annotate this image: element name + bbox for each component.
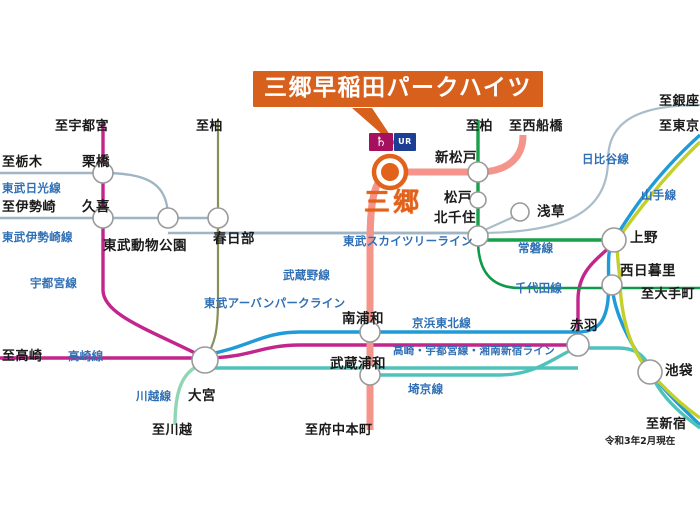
- property-title: 三郷早稲田パークハイツ: [264, 77, 532, 100]
- musashino-logo-glyph: ♄: [375, 136, 387, 149]
- line-label-yamanote: 山手線: [641, 190, 676, 202]
- station-label-musashi-urawa: 武蔵浦和: [330, 358, 386, 372]
- destination-label-fuchuhonmachi: 至府中本町: [305, 424, 373, 437]
- musashino-line-logo-icon: ♄: [369, 133, 393, 151]
- line-label-keihin-tohoku: 京浜東北線: [412, 318, 471, 330]
- property-title-banner: 三郷早稲田パークハイツ: [253, 71, 543, 107]
- line-label-takasaki: 高崎線: [68, 351, 103, 363]
- target-station-label: 三郷: [364, 190, 422, 216]
- destination-label-kashiwa-west: 至柏: [196, 120, 223, 133]
- station-label-omiya: 大宮: [188, 390, 216, 404]
- destination-label-otemachi: 至大手町: [641, 288, 695, 301]
- line-label-tobu-skytree: 東武スカイツリーライン: [343, 236, 473, 248]
- line-label-tobu-urban-park: 東武アーバンパークライン: [204, 298, 345, 310]
- ur-logo-glyph: UR: [398, 138, 412, 146]
- station-label-akabane: 赤羽: [570, 320, 598, 334]
- line-label-utsunomiya: 宇都宮線: [30, 278, 77, 290]
- logo-badges: ♄ UR: [369, 133, 416, 151]
- station-label-kasukabe: 春日部: [213, 233, 255, 247]
- station-label-ikebukuro: 池袋: [665, 365, 693, 379]
- line-label-takasaki-utsunomiya-shonan-shinjuku: 高崎・宇都宮線・湘南新宿ライン: [393, 346, 555, 357]
- station-label-matsudo: 松戸: [444, 192, 472, 206]
- station-label-shin-matsudo: 新松戸: [435, 152, 477, 166]
- station-label-kurihashi: 栗橋: [82, 156, 110, 170]
- destination-label-tochigi: 至栃木: [2, 156, 43, 169]
- station-label-tobu-dobutsu-koen: 東武動物公園: [103, 240, 187, 254]
- as-of-date-label: 令和3年2月現在: [605, 437, 675, 447]
- line-label-joban: 常磐線: [518, 243, 553, 255]
- line-label-tobu-nikko: 東武日光線: [2, 183, 61, 195]
- station-label-nishi-nippori: 西日暮里: [620, 265, 676, 279]
- destination-label-isesaki: 至伊勢崎: [2, 201, 56, 214]
- destination-label-utsunomiya: 至宇都宮: [55, 120, 109, 133]
- destination-label-kawagoe: 至川越: [152, 424, 193, 437]
- destination-label-takasaki: 至高崎: [2, 350, 43, 363]
- destination-label-kashiwa-east: 至柏: [466, 120, 493, 133]
- destination-label-nishifunabashi: 至西船橋: [509, 120, 563, 133]
- line-label-musashino: 武蔵野線: [283, 270, 330, 282]
- route-map: 三郷早稲田パークハイツ ♄ UR 三郷 栗橋 久喜 東武動物公園 春日部 大宮 …: [0, 0, 700, 525]
- station-label-minami-urawa: 南浦和: [342, 313, 384, 327]
- line-label-saikyo: 埼京線: [408, 384, 443, 396]
- line-label-kawagoe: 川越線: [136, 391, 171, 403]
- line-label-chiyoda: 千代田線: [515, 283, 562, 295]
- line-label-hibiya: 日比谷線: [582, 154, 629, 166]
- destination-label-shinjuku: 至新宿: [646, 418, 687, 431]
- destination-label-tokyo: 至東京: [659, 120, 700, 133]
- destination-label-ginza: 至銀座: [659, 95, 700, 108]
- line-label-tobu-isesaki: 東武伊勢崎線: [2, 232, 73, 244]
- station-label-kuki: 久喜: [82, 201, 110, 215]
- ur-logo-icon: UR: [394, 133, 416, 151]
- station-label-kita-senju: 北千住: [434, 212, 476, 226]
- station-label-asakusa: 浅草: [537, 206, 565, 220]
- station-label-ueno: 上野: [630, 232, 658, 246]
